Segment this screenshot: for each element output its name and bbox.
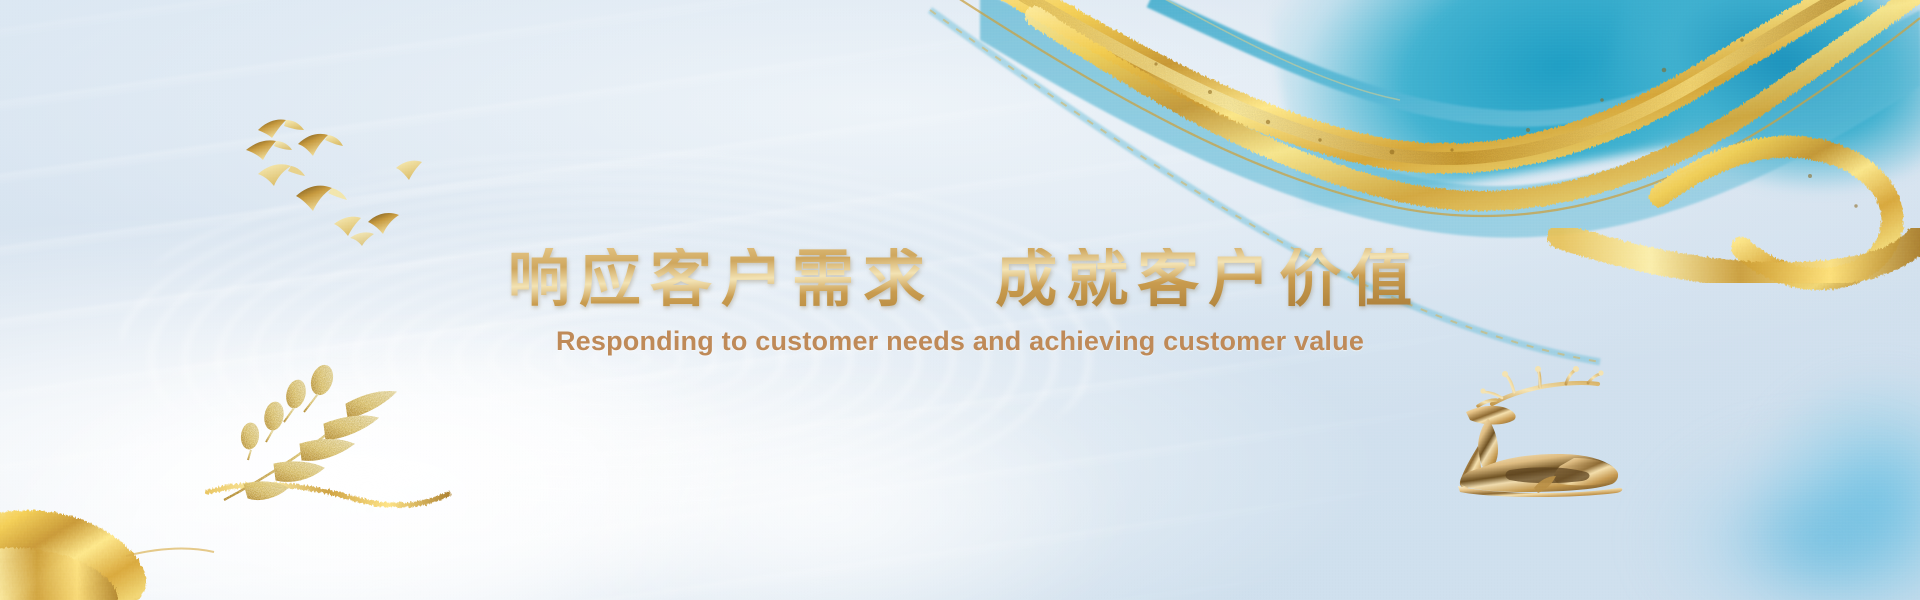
banner-text-block: 响应客户需求 成就客户价值 Responding to customer nee…	[0, 248, 1920, 357]
page-subtitle: Responding to customer needs and achievi…	[0, 326, 1920, 357]
page-title: 响应客户需求 成就客户价值	[0, 248, 1920, 310]
hero-banner: 响应客户需求 成就客户价值 Responding to customer nee…	[0, 0, 1920, 600]
